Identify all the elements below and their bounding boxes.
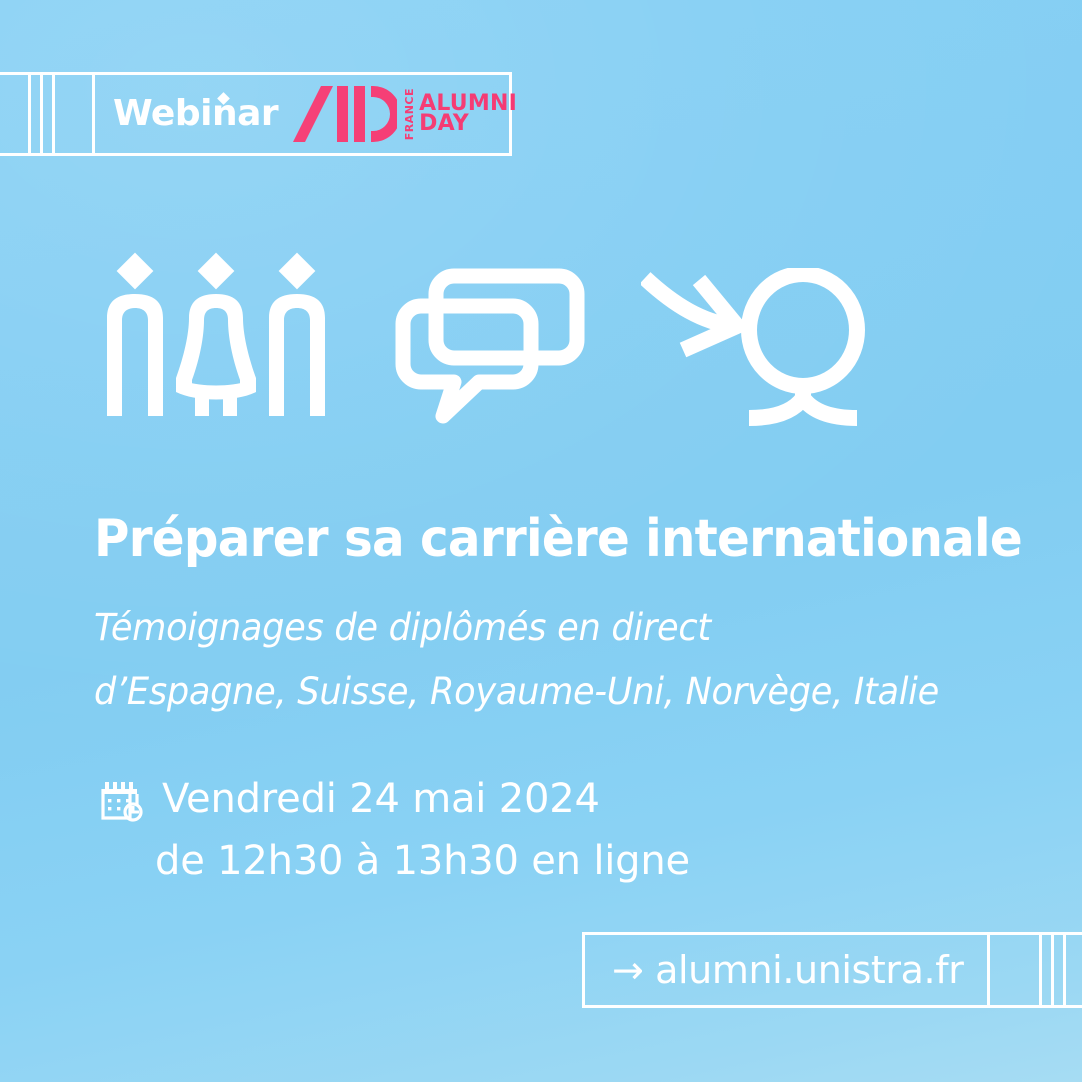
header-decorative-rule-3 xyxy=(52,72,55,156)
event-time: de 12h30 à 13h30 en ligne xyxy=(100,830,860,892)
three-people-icon xyxy=(96,252,336,422)
arrow-to-globe-icon xyxy=(641,268,871,428)
logo-day-label: DAY xyxy=(419,114,517,134)
france-alumni-day-logo: FRANCE ALUMNI DAY xyxy=(293,86,517,142)
header-decorative-rule-1 xyxy=(28,72,31,156)
page-subtitle: Témoignages de diplômés en direct d’Espa… xyxy=(94,596,1006,723)
event-details: Vendredi 24 mai 2024 de 12h30 à 13h30 en… xyxy=(100,768,860,892)
page-title: Préparer sa carrière internationale xyxy=(94,512,987,567)
cta-band: → alumni.unistra.fr xyxy=(582,932,1082,1008)
event-date-row: Vendredi 24 mai 2024 xyxy=(100,768,860,830)
cta-decorative-rule-1 xyxy=(987,932,990,1008)
cta-decorative-rule-2 xyxy=(1039,932,1042,1008)
header-banner: Webinar FRANCE ALUMNI DAY xyxy=(0,72,512,156)
arrow-right-icon: → xyxy=(612,948,643,992)
header-content: Webinar FRANCE ALUMNI DAY xyxy=(92,72,512,156)
webinar-label-wrap: Webinar xyxy=(113,96,278,132)
subtitle-line-1: Témoignages de diplômés en direct xyxy=(94,596,1006,660)
cta-url-text: alumni.unistra.fr xyxy=(655,948,963,992)
cta-url-button[interactable]: → alumni.unistra.fr xyxy=(582,932,990,1008)
poster-canvas: Webinar FRANCE ALUMNI DAY xyxy=(0,0,1082,1082)
logo-wordmark: ALUMNI DAY xyxy=(419,94,517,134)
fad-monogram-icon xyxy=(293,86,397,142)
speech-bubbles-icon xyxy=(391,258,591,428)
cta-decorative-rule-4 xyxy=(1063,932,1066,1008)
calendar-clock-icon xyxy=(100,779,146,823)
subtitle-line-2: d’Espagne, Suisse, Royaume-Uni, Norvège,… xyxy=(94,660,1006,724)
cta-url-label: → alumni.unistra.fr xyxy=(612,948,963,992)
event-date: Vendredi 24 mai 2024 xyxy=(162,768,600,830)
header-decorative-rule-2 xyxy=(40,72,43,156)
logo-france-label: FRANCE xyxy=(404,88,415,140)
cta-decorative-rule-3 xyxy=(1051,932,1054,1008)
webinar-label: Webinar xyxy=(113,93,278,134)
icon-row xyxy=(96,248,896,448)
